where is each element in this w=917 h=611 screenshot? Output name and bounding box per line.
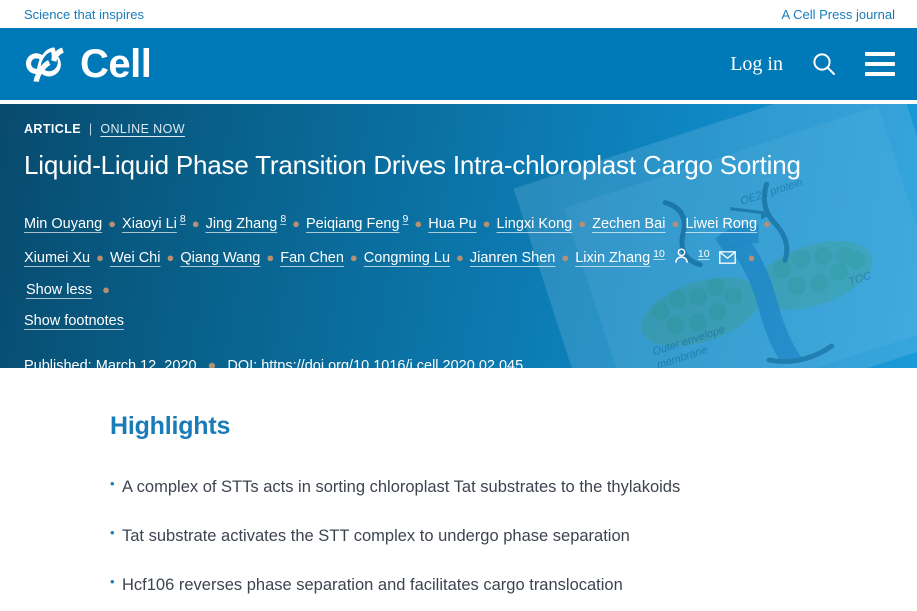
author-link[interactable]: Xiaoyi Li bbox=[122, 216, 177, 232]
author-affiliation-sup[interactable]: 9 bbox=[403, 213, 409, 225]
author-separator-dot: ● bbox=[763, 209, 771, 239]
author-separator-dot: ● bbox=[578, 209, 586, 239]
author-link[interactable]: Xiumei Xu bbox=[24, 250, 90, 266]
doi-label: DOI: bbox=[227, 358, 257, 368]
author-trailing-dot: ● bbox=[102, 275, 110, 305]
author-separator-dot: ● bbox=[671, 209, 679, 239]
highlights-list: A complex of STTs acts in sorting chloro… bbox=[110, 475, 917, 597]
cell-wordmark: Cell bbox=[80, 44, 151, 84]
author-link[interactable]: Liwei Rong bbox=[685, 216, 757, 232]
author-separator-dot: ● bbox=[414, 209, 422, 239]
article-title: Liquid-Liquid Phase Transition Drives In… bbox=[24, 150, 804, 182]
utility-topbar: Science that inspires A Cell Press journ… bbox=[0, 0, 917, 28]
highlight-item: A complex of STTs acts in sorting chloro… bbox=[110, 475, 917, 500]
author-link[interactable]: Wei Chi bbox=[110, 250, 161, 266]
author-separator-dot: ● bbox=[96, 243, 104, 273]
show-footnotes-link[interactable]: Show footnotes bbox=[24, 313, 124, 329]
highlights-heading: Highlights bbox=[110, 412, 917, 441]
author-separator-dot: ● bbox=[456, 243, 464, 273]
online-now-link[interactable]: ONLINE NOW bbox=[100, 122, 185, 136]
person-icon[interactable] bbox=[674, 245, 689, 275]
author-link[interactable]: Min Ouyang bbox=[24, 216, 102, 232]
author-separator-dot: ● bbox=[192, 209, 200, 239]
author-separator-dot: ● bbox=[350, 243, 358, 273]
cell-mark-icon bbox=[24, 43, 68, 85]
author-link[interactable]: Peiqiang Feng bbox=[306, 216, 400, 232]
cell-press-journal-link[interactable]: A Cell Press journal bbox=[782, 8, 895, 21]
author-link[interactable]: Lixin Zhang bbox=[575, 250, 650, 266]
article-banner: OE23 protein Outer envelope membrane Pro… bbox=[0, 104, 917, 368]
article-kicker: ARTICLE | ONLINE NOW bbox=[24, 122, 893, 136]
published-label: Published: bbox=[24, 358, 92, 368]
publication-info: Published: March 12, 2020 ● DOI: https:/… bbox=[24, 358, 893, 368]
pubinfo-separator-dot: ● bbox=[208, 358, 217, 368]
author-link[interactable]: Congming Lu bbox=[364, 250, 450, 266]
highlight-item: Hcf106 reverses phase separation and fac… bbox=[110, 573, 917, 598]
kicker-separator: | bbox=[89, 122, 93, 136]
author-list: Min Ouyang●Xiaoyi Li8●Jing Zhang8●Peiqia… bbox=[24, 204, 784, 306]
author-link[interactable]: Jing Zhang bbox=[206, 216, 278, 232]
cell-logo[interactable]: Cell bbox=[24, 43, 151, 85]
author-link[interactable]: Zechen Bai bbox=[592, 216, 665, 232]
doi-link[interactable]: https://doi.org/10.1016/j.cell.2020.02.0… bbox=[261, 358, 523, 368]
author-link[interactable]: Qiang Wang bbox=[180, 250, 260, 266]
author-separator-dot: ● bbox=[266, 243, 274, 273]
author-link[interactable]: Hua Pu bbox=[428, 216, 476, 232]
author-separator-dot: ● bbox=[483, 209, 491, 239]
kicker-type-label: ARTICLE bbox=[24, 122, 81, 136]
author-separator-dot: ● bbox=[166, 243, 174, 273]
search-icon[interactable] bbox=[811, 51, 837, 77]
envelope-icon[interactable] bbox=[719, 245, 736, 275]
author-link[interactable]: Lingxi Kong bbox=[496, 216, 572, 232]
header-actions: Log in bbox=[730, 51, 895, 77]
author-separator-dot: ● bbox=[292, 209, 300, 239]
author-separator-dot: ● bbox=[561, 243, 569, 273]
hamburger-menu-icon[interactable] bbox=[865, 52, 895, 76]
author-affiliation-sup[interactable]: 8 bbox=[180, 213, 186, 225]
login-link[interactable]: Log in bbox=[730, 54, 783, 74]
site-header: Cell Log in bbox=[0, 28, 917, 100]
author-affiliation-sup[interactable]: 10 bbox=[653, 248, 665, 260]
show-less-link[interactable]: Show less bbox=[26, 282, 92, 298]
author-link[interactable]: Fan Chen bbox=[280, 250, 344, 266]
correspondence-sup[interactable]: 10 bbox=[698, 248, 710, 260]
author-separator-dot: ● bbox=[108, 209, 116, 239]
author-separator-dot: ● bbox=[748, 243, 756, 273]
article-content: Highlights A complex of STTs acts in sor… bbox=[0, 368, 917, 597]
author-entries: Min Ouyang●Xiaoyi Li8●Jing Zhang8●Peiqia… bbox=[24, 216, 777, 267]
highlight-item: Tat substrate activates the STT complex … bbox=[110, 524, 917, 549]
author-link[interactable]: Jianren Shen bbox=[470, 250, 555, 266]
author-affiliation-sup[interactable]: 8 bbox=[280, 213, 286, 225]
science-that-inspires-link[interactable]: Science that inspires bbox=[24, 8, 144, 21]
published-date: March 12, 2020 bbox=[96, 358, 197, 368]
